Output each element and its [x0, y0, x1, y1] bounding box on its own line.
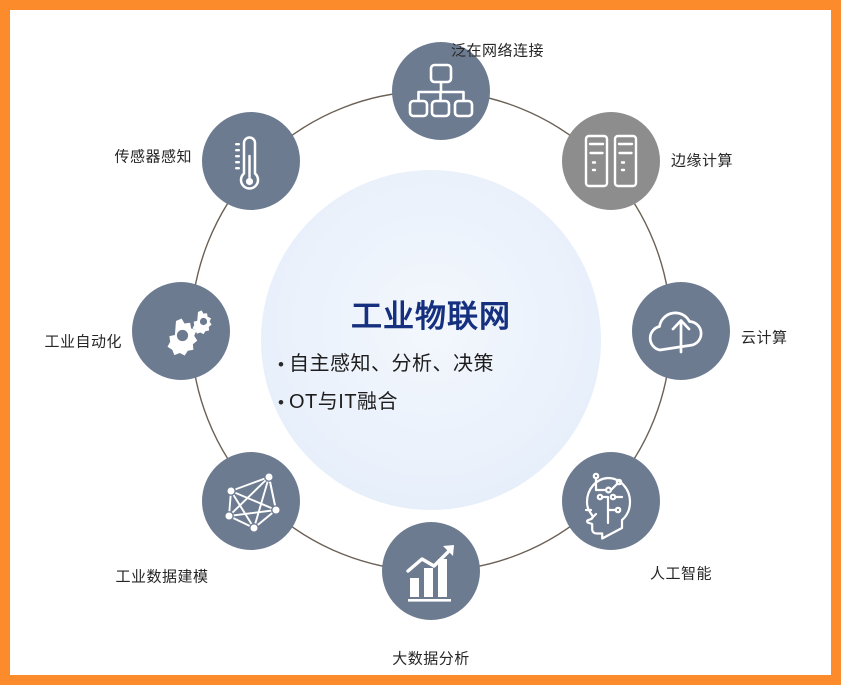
node-cloud[interactable] — [632, 282, 730, 380]
node-circle-sensing — [202, 112, 300, 210]
center-bullet-2: • OT与IT融合 — [251, 385, 611, 414]
node-bigdata[interactable] — [382, 522, 480, 620]
node-label-sensing[interactable]: 传感器感知 — [114, 146, 192, 167]
diagram-stage: 泛在网络连接 边缘计算 云计算 人工智能 大数据分析 工业数据建模 工业自动化 … — [10, 10, 831, 675]
bullet-marker-icon: • — [273, 356, 289, 373]
center-bullet-1: • 自主感知、分析、决策 — [251, 347, 611, 376]
node-sensing[interactable] — [202, 112, 300, 210]
node-edge[interactable] — [562, 112, 660, 210]
bullet-marker-icon: • — [273, 394, 289, 411]
node-label-network[interactable]: 泛在网络连接 — [451, 40, 544, 61]
node-label-ai[interactable]: 人工智能 — [650, 563, 712, 584]
diagram-canvas: 泛在网络连接 边缘计算 云计算 人工智能 大数据分析 工业数据建模 工业自动化 … — [0, 0, 841, 685]
node-circle-ai — [562, 452, 660, 550]
center-title: 工业物联网 — [251, 300, 611, 334]
center-bullet-2-label: OT与IT融合 — [289, 385, 398, 414]
node-label-automation[interactable]: 工业自动化 — [44, 331, 122, 352]
center-text-block: 工业物联网 • 自主感知、分析、决策 • OT与IT融合 — [251, 300, 611, 423]
node-automation[interactable] — [132, 282, 230, 380]
node-label-bigdata[interactable]: 大数据分析 — [392, 648, 470, 669]
node-label-edge[interactable]: 边缘计算 — [671, 150, 733, 171]
node-label-cloud[interactable]: 云计算 — [741, 327, 788, 348]
node-label-modeling[interactable]: 工业数据建模 — [115, 566, 208, 587]
node-circle-modeling — [202, 452, 300, 550]
node-ai[interactable] — [562, 452, 660, 550]
node-circle-edge — [562, 112, 660, 210]
center-bullet-1-label: 自主感知、分析、决策 — [289, 347, 494, 376]
node-modeling[interactable] — [202, 452, 300, 550]
